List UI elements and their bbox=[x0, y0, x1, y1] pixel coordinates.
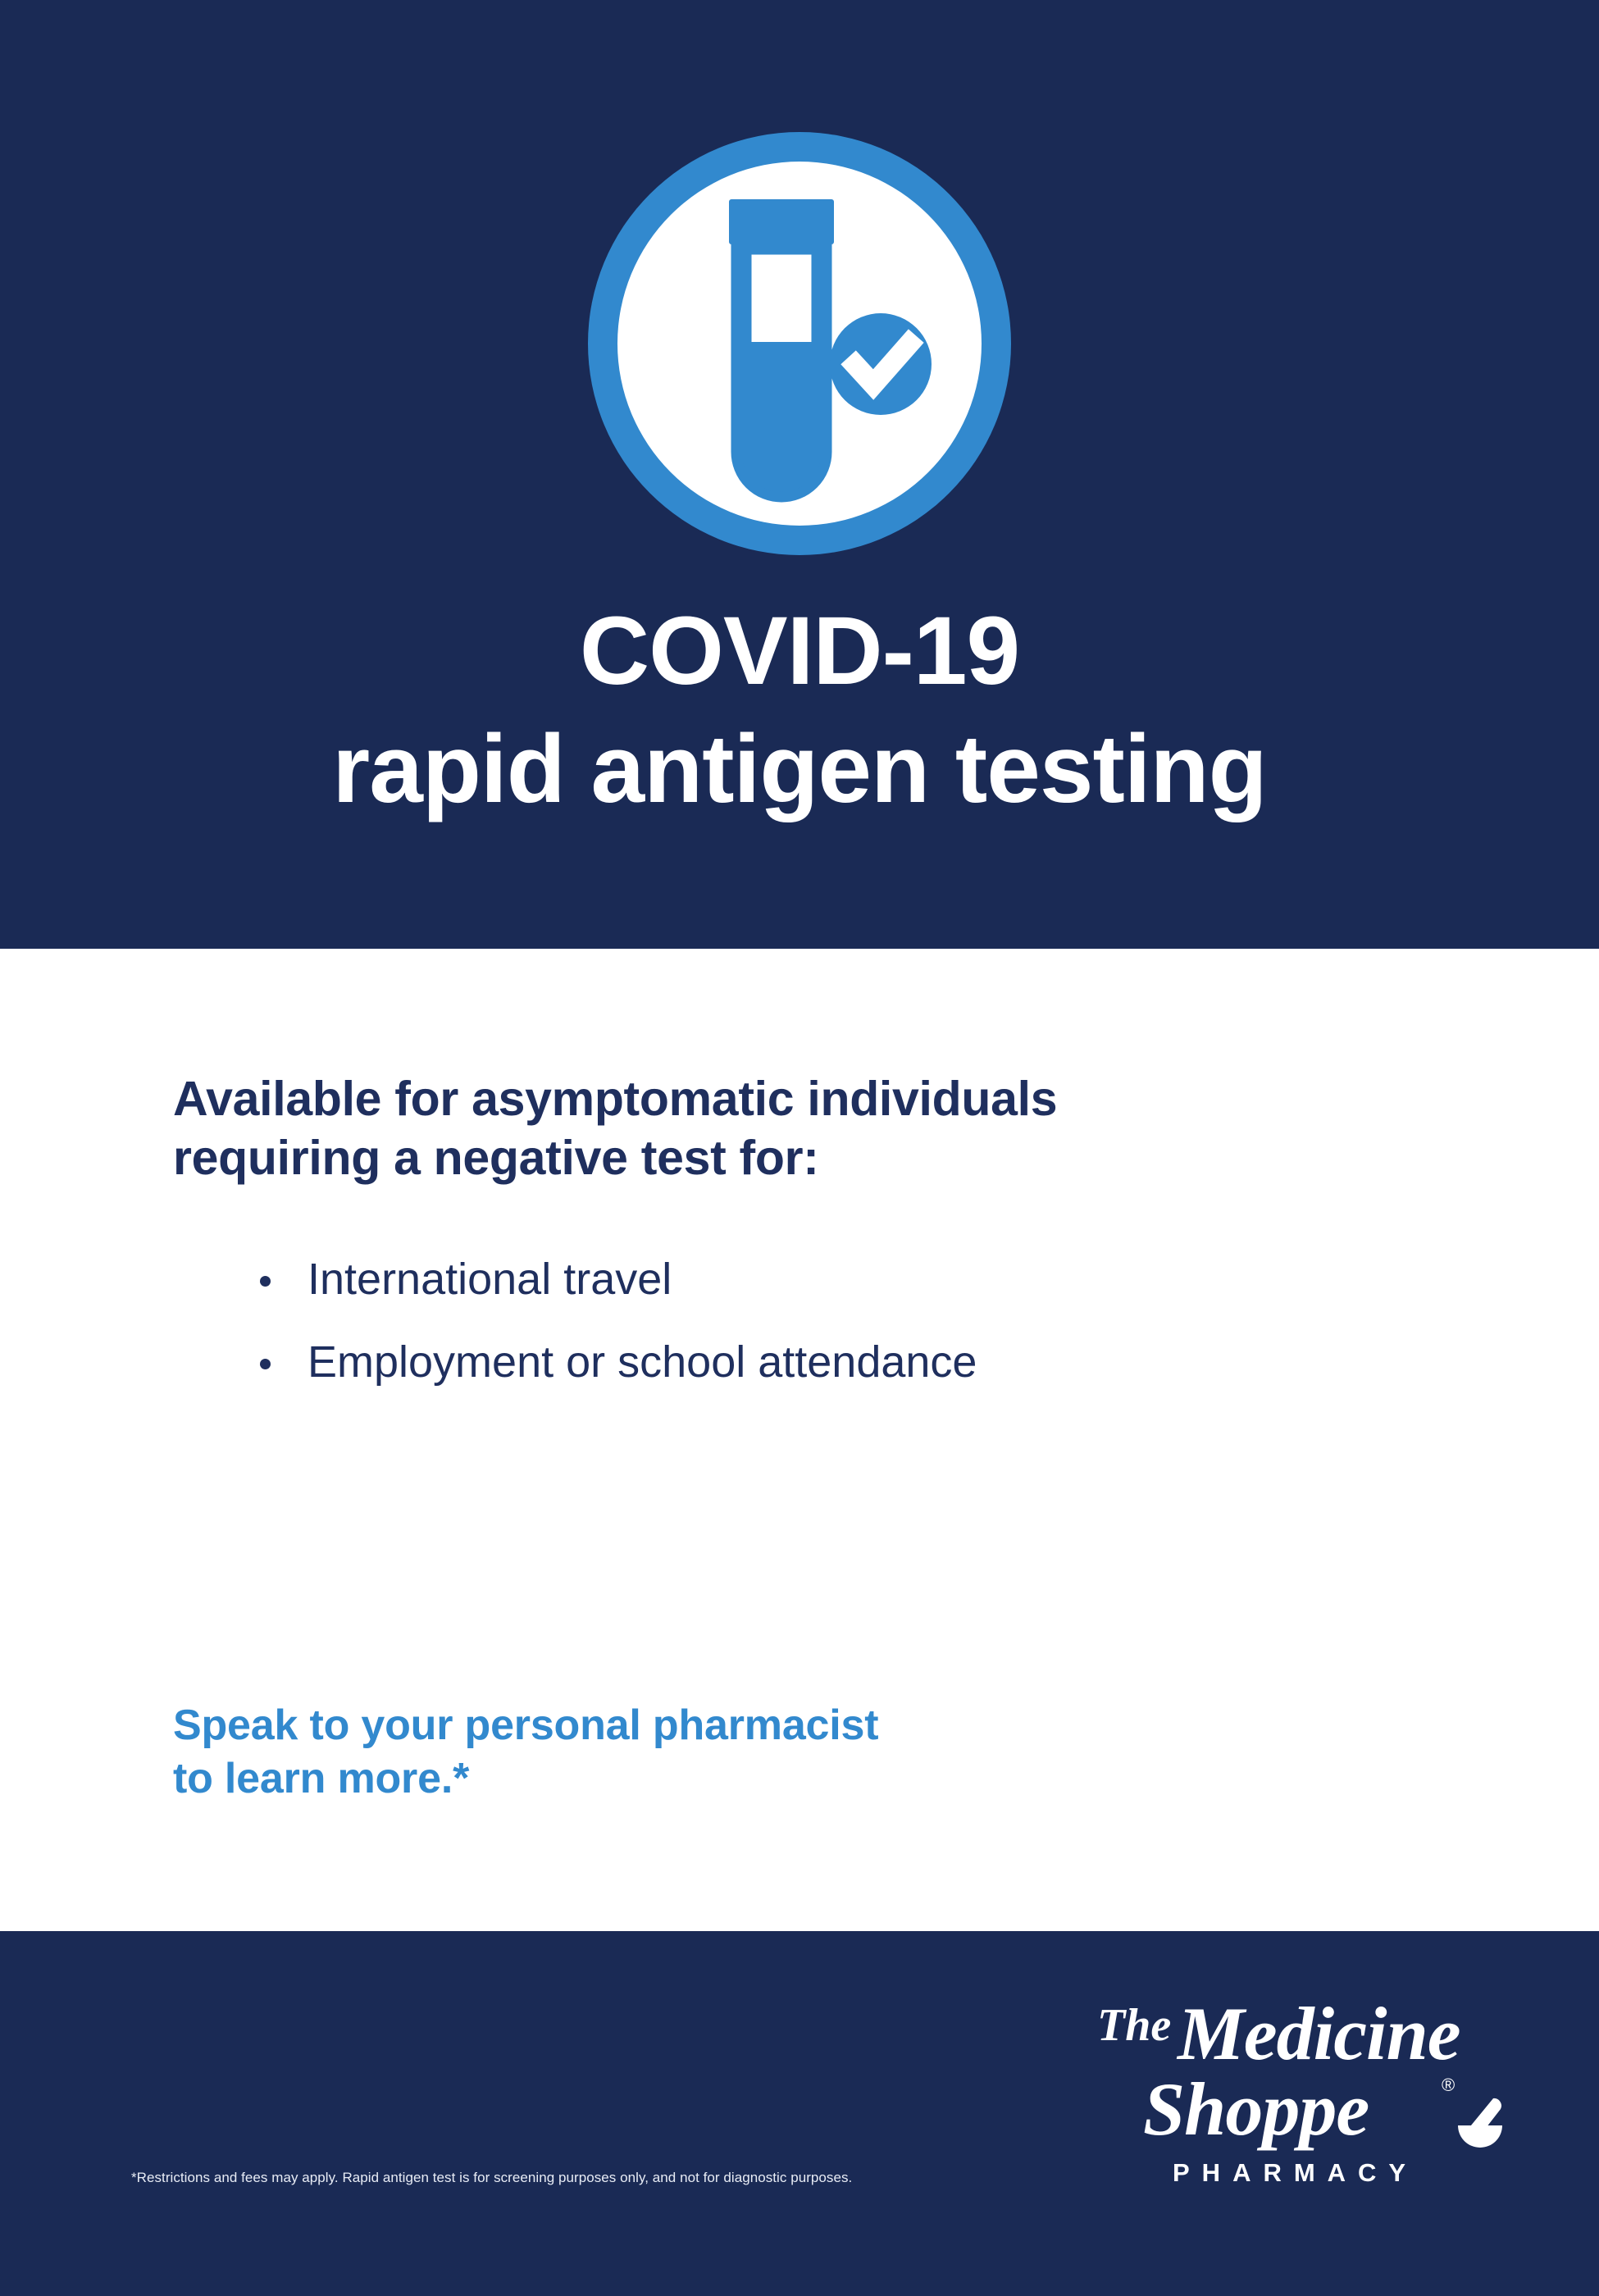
poster-canvas: COVID-19 rapid antigen testing Available… bbox=[0, 0, 1599, 2296]
logo-word-shoppe: Shoppe bbox=[1143, 2071, 1369, 2147]
logo-word-pharmacy: PHARMACY bbox=[1173, 2160, 1418, 2185]
bullet-dot-icon bbox=[260, 1359, 271, 1369]
list-item-label: Employment or school attendance bbox=[307, 1337, 977, 1387]
list-item: International travel bbox=[255, 1256, 1485, 1303]
title-line-subject: rapid antigen testing bbox=[0, 721, 1599, 818]
body-section: Available for asymptomatic individuals r… bbox=[0, 949, 1599, 1931]
registered-trademark-icon: ® bbox=[1442, 2075, 1455, 2096]
logo-word-medicine: Medicine bbox=[1178, 1996, 1460, 2071]
logo-word-the: The bbox=[1097, 2002, 1171, 2048]
test-tube-check-circle-icon bbox=[583, 127, 1016, 560]
medicine-shoppe-logo: The Medicine Shoppe ® PHARMACY bbox=[1091, 1999, 1517, 2204]
lead-heading: Available for asymptomatic individuals r… bbox=[173, 1070, 1485, 1188]
eligibility-list: International travel Employment or schoo… bbox=[255, 1256, 1485, 1421]
title-line-covid: COVID-19 bbox=[0, 603, 1599, 699]
mortar-and-pestle-icon bbox=[1455, 2096, 1506, 2148]
cta-line-1: Speak to your personal pharmacist bbox=[173, 1699, 1403, 1752]
cta-line-2: to learn more.* bbox=[173, 1752, 1403, 1806]
bullet-dot-icon bbox=[260, 1276, 271, 1287]
lead-heading-line-2: requiring a negative test for: bbox=[173, 1129, 1485, 1188]
list-item-label: International travel bbox=[307, 1255, 672, 1304]
page-title: COVID-19 rapid antigen testing bbox=[0, 603, 1599, 818]
lead-heading-line-1: Available for asymptomatic individuals bbox=[173, 1070, 1485, 1129]
list-item: Employment or school attendance bbox=[255, 1339, 1485, 1386]
header-banner: COVID-19 rapid antigen testing bbox=[0, 0, 1599, 949]
disclaimer-text: *Restrictions and fees may apply. Rapid … bbox=[131, 2169, 1033, 2187]
call-to-action: Speak to your personal pharmacist to lea… bbox=[173, 1699, 1403, 1806]
